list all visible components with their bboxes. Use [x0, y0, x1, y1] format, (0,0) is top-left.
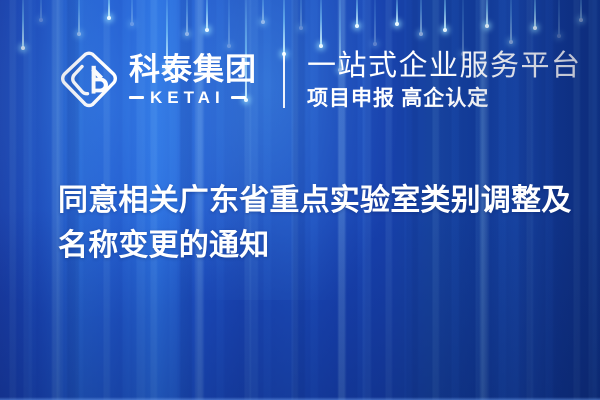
dash-right-icon: [231, 96, 246, 99]
brand-logo[interactable]: 科泰集团 KETAI: [58, 49, 257, 111]
tagline-secondary: 项目申报 高企认定: [307, 86, 582, 110]
promo-banner: 科泰集团 KETAI 一站式企业服务平台 项目申报 高企认定 同意相关广东省重点…: [0, 0, 600, 400]
brand-name-en: KETAI: [150, 89, 225, 106]
dash-left-icon: [129, 96, 144, 99]
brand-name-en-row: KETAI: [129, 89, 257, 106]
header-divider: [283, 52, 285, 108]
banner-header: 科泰集团 KETAI 一站式企业服务平台 项目申报 高企认定: [58, 42, 582, 118]
article-title: 同意相关广东省重点实验室类别调整及名称变更的通知: [58, 178, 574, 268]
ketai-diamond-monogram-icon: [58, 49, 120, 111]
brand-name-cn: 科泰集团: [129, 54, 257, 87]
brand-wordmark: 科泰集团 KETAI: [129, 54, 257, 107]
tagline-block: 一站式企业服务平台 项目申报 高企认定: [307, 50, 582, 111]
tagline-primary: 一站式企业服务平台: [307, 50, 582, 82]
